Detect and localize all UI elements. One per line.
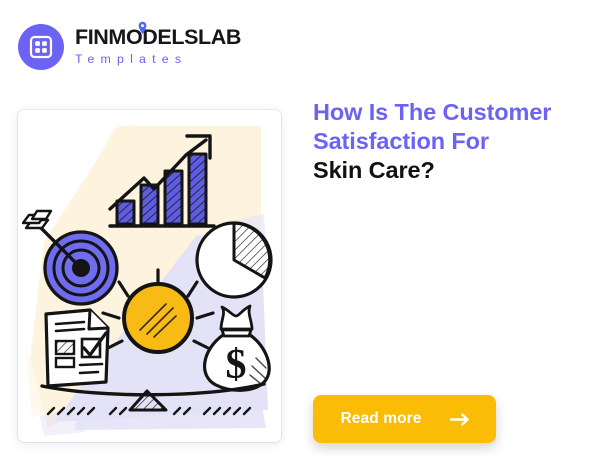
read-more-button[interactable]: Read more [313,395,496,443]
read-more-label: Read more [340,410,421,428]
brand-name: FINMODELSLAB [75,26,241,48]
arrow-right-icon [450,413,469,426]
headline-block: How Is The Customer Satisfaction For Ski… [313,98,581,185]
brand-wordmark: FINMODELSLAB Templates [75,26,241,69]
location-pin-icon [138,21,147,35]
brand-subtitle: Templates [75,50,241,69]
page-title: How Is The Customer Satisfaction For Ski… [313,98,581,185]
illustration-card: $ [18,110,281,442]
headline-primary: How Is The Customer Satisfaction For [313,99,551,154]
grid-squares-icon [29,35,53,59]
brand-logo-mark [18,24,64,70]
pie-chart [197,223,271,297]
business-analytics-balance-illustration: $ [18,110,281,442]
dollar-symbol: $ [226,342,247,388]
headline-secondary: Skin Care? [313,156,581,185]
brand-logo-bar[interactable]: FINMODELSLAB Templates [18,24,241,70]
checklist-document [46,310,108,386]
